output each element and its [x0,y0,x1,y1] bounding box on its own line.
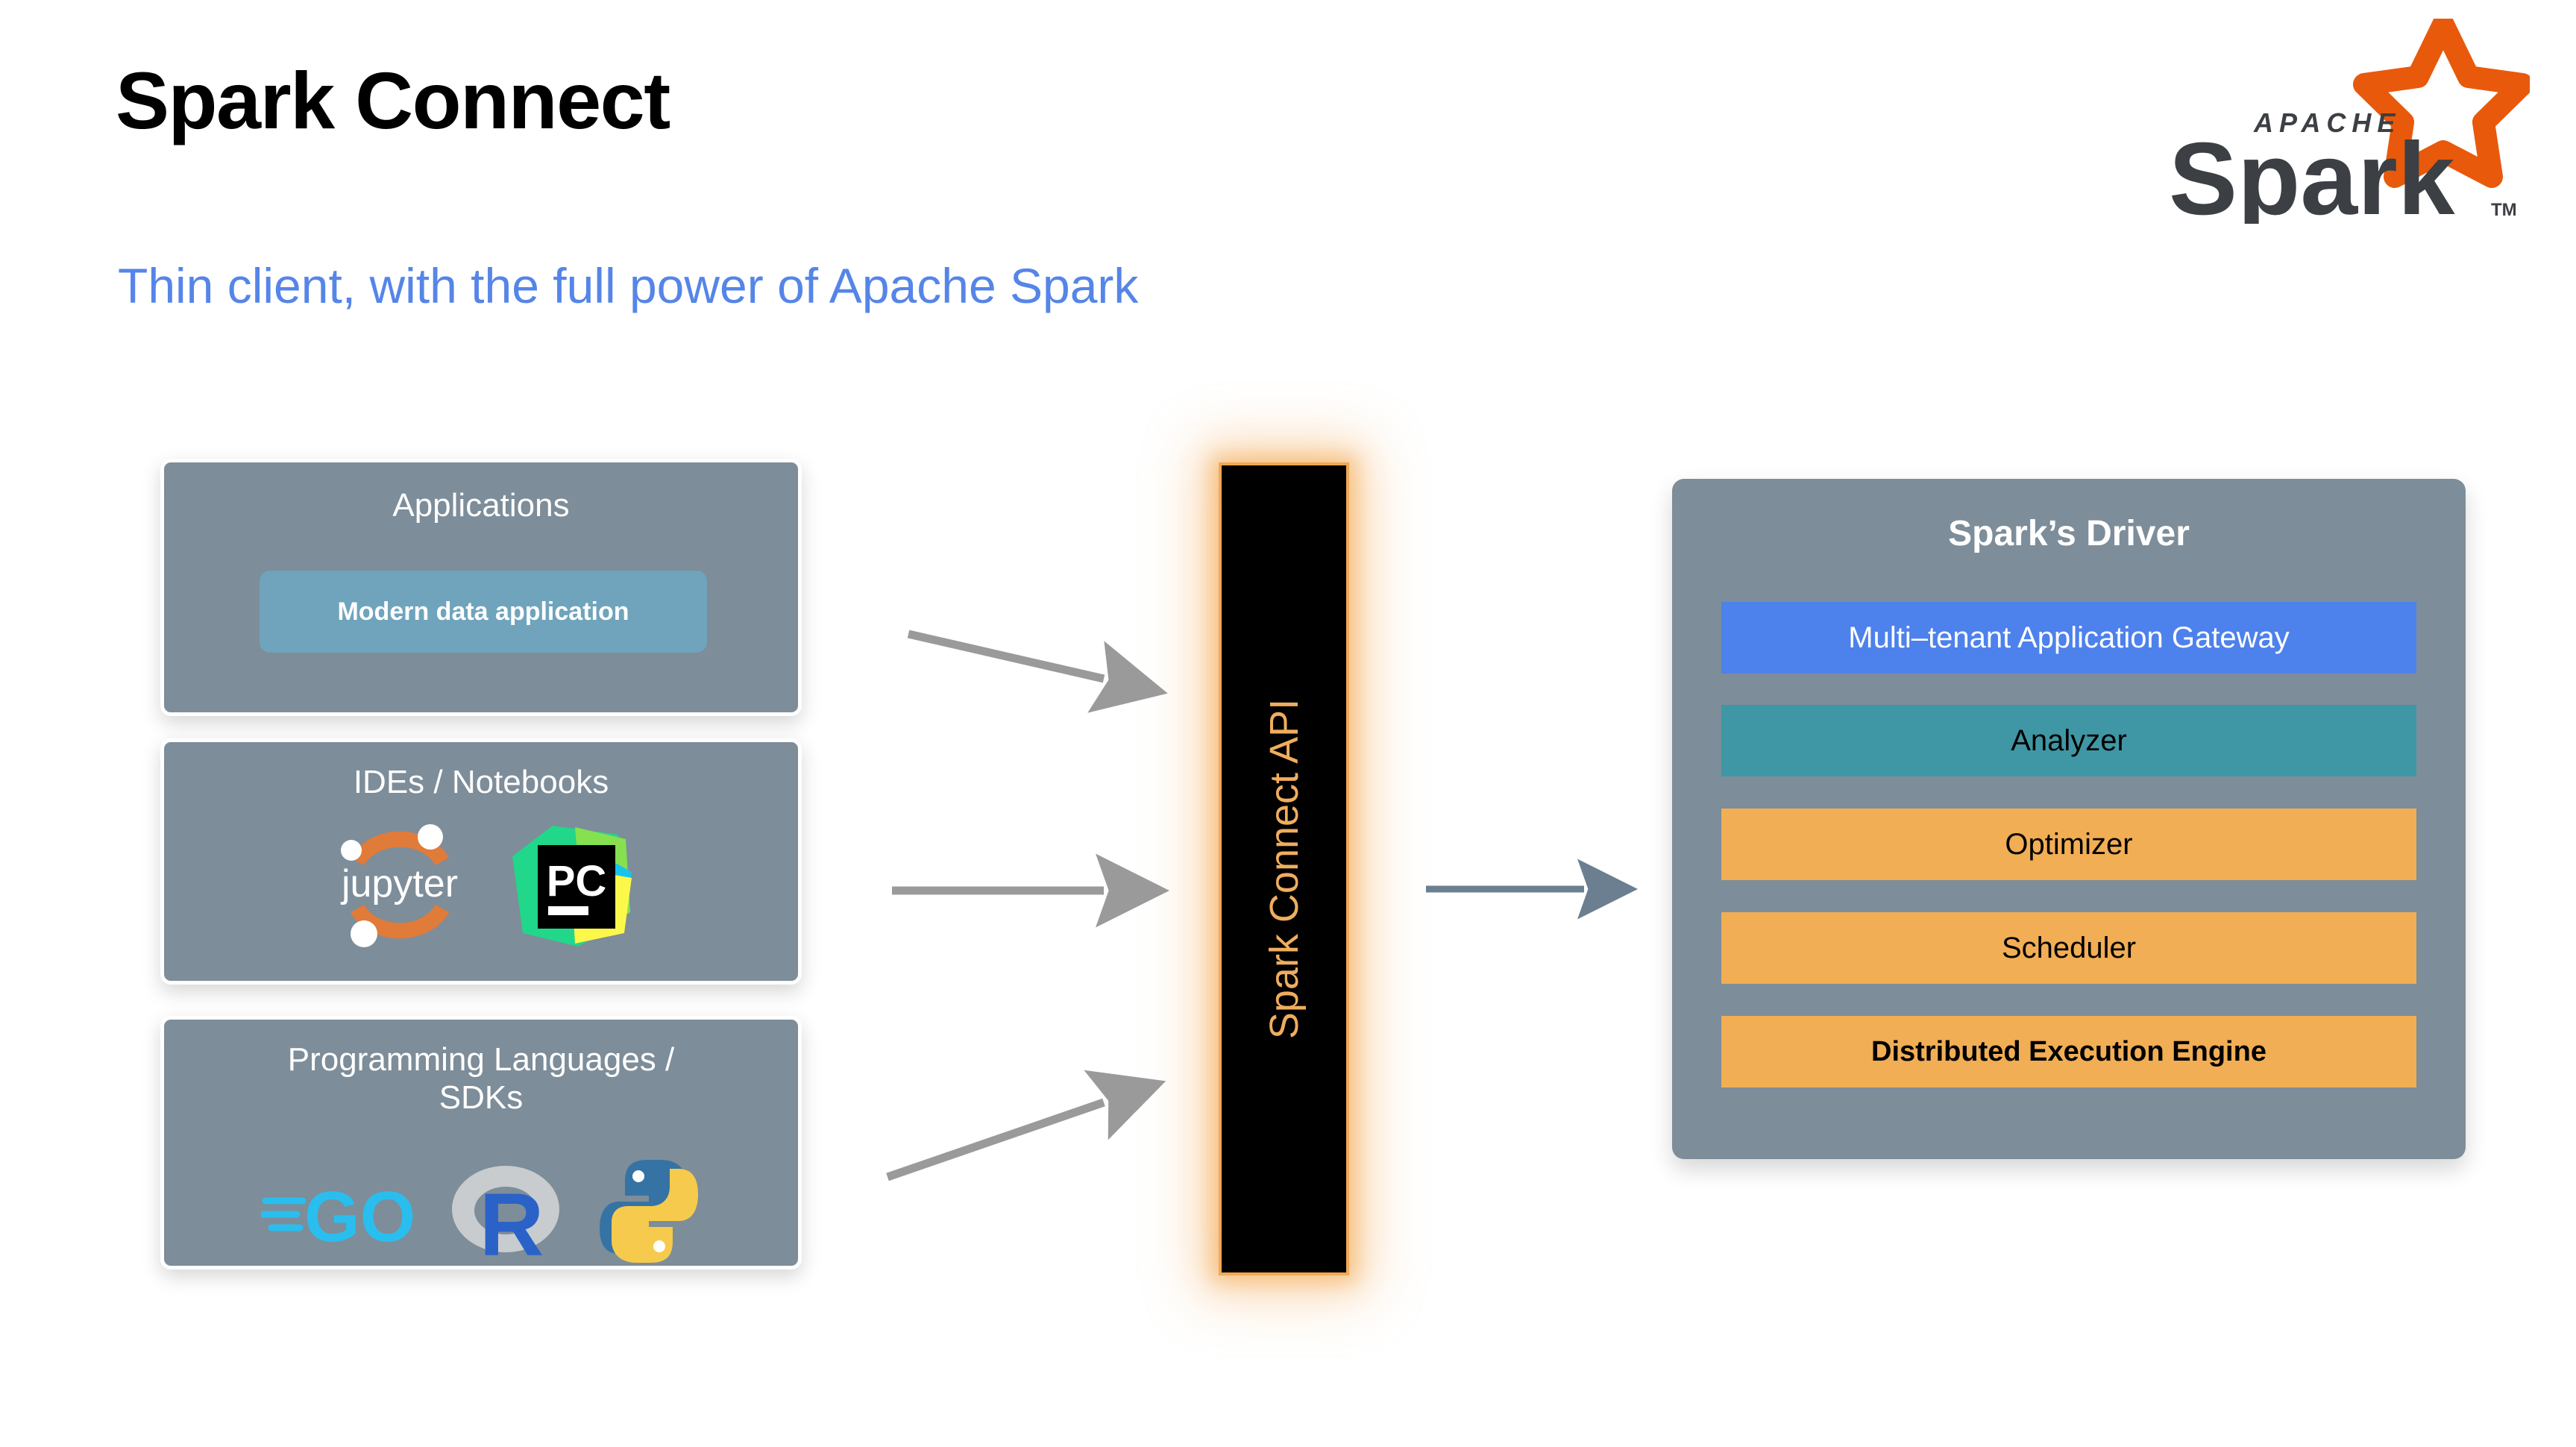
ide-icon-row: jupyter PC [164,820,798,951]
driver-row-analyzer[interactable]: Analyzer [1721,705,2416,776]
spark-driver-title: Spark’s Driver [1672,513,2466,555]
go-icon: GO [261,1167,418,1256]
page-subtitle: Thin client, with the full power of Apac… [118,257,1138,314]
driver-row-gateway[interactable]: Multi–tenant Application Gateway [1721,602,2416,674]
modern-data-application-box[interactable]: Modern data application [260,571,707,653]
pycharm-icon: PC [506,823,633,950]
card-applications[interactable]: Applications Modern data application [160,459,802,716]
apache-spark-logo: APACHE Spark TM [2142,19,2530,224]
arrow-languages-to-api [888,1102,1104,1177]
card-spark-driver[interactable]: Spark’s Driver Multi–tenant Application … [1672,479,2466,1159]
python-icon [597,1155,701,1267]
card-ides-title: IDEs / Notebooks [164,763,798,801]
card-ides-notebooks[interactable]: IDEs / Notebooks jupyter PC [160,738,802,985]
language-icon-row: GO R [164,1155,798,1267]
card-programming-languages[interactable]: Programming Languages / SDKs GO R [160,1016,802,1269]
card-languages-title-line2: SDKs [164,1079,798,1117]
card-applications-title: Applications [164,486,798,524]
arrow-applications-to-api [908,634,1104,679]
jupyter-wordmark: jupyter [340,862,458,905]
driver-row-distributed-execution-engine[interactable]: Distributed Execution Engine [1721,1016,2416,1087]
spark-connect-api-bar[interactable]: Spark Connect API [1219,462,1349,1275]
driver-row-optimizer[interactable]: Optimizer [1721,809,2416,880]
logo-spark-wordmark: Spark [2169,122,2455,224]
card-languages-title-line1: Programming Languages / [164,1040,798,1079]
spark-connect-api-label: Spark Connect API [1261,699,1307,1039]
page-title: Spark Connect [116,54,670,147]
driver-row-scheduler[interactable]: Scheduler [1721,912,2416,984]
jupyter-icon: jupyter [329,820,471,951]
logo-trademark-text: TM [2491,200,2517,220]
r-wordmark: R [480,1175,544,1267]
go-wordmark: GO [304,1177,415,1256]
r-icon: R [447,1155,567,1267]
card-languages-title: Programming Languages / SDKs [164,1040,798,1117]
pycharm-pc-label: PC [547,857,607,905]
